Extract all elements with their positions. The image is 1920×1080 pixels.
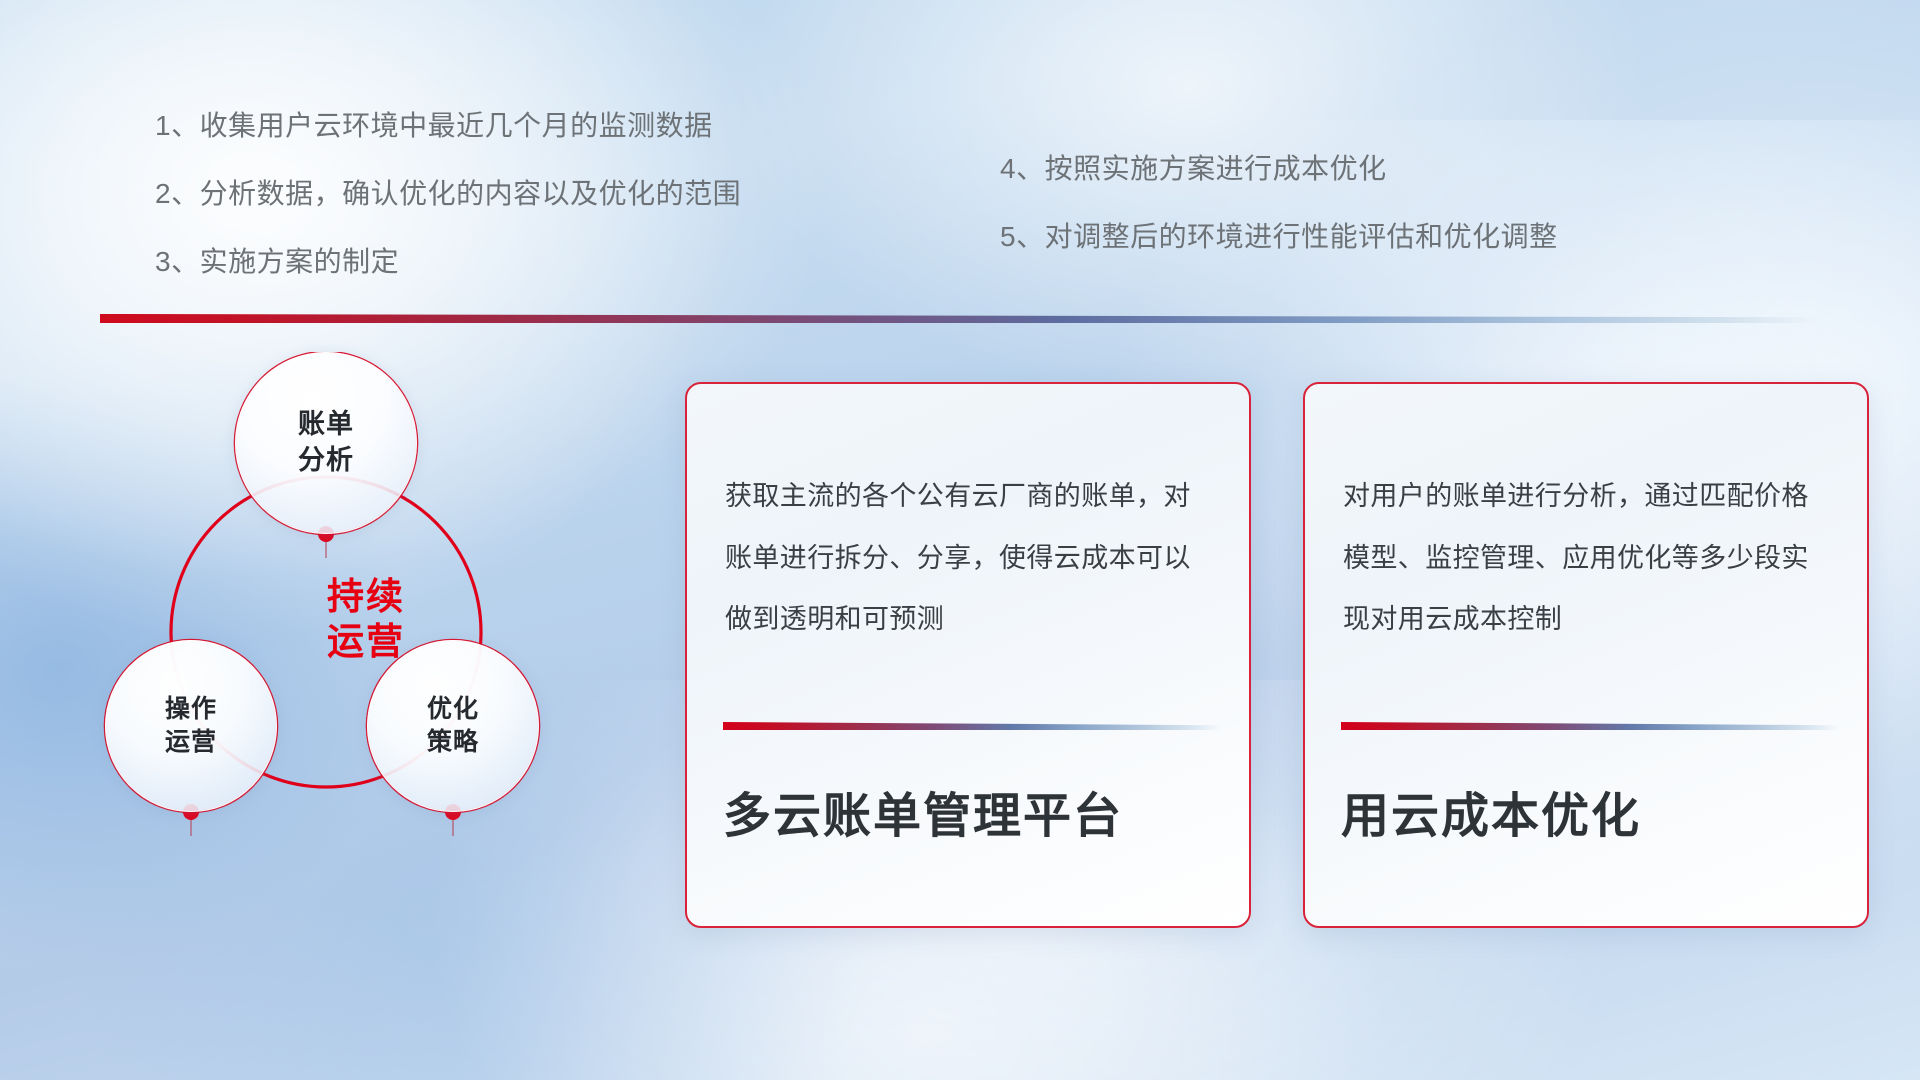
step-item-3: 3、实施方案的制定 bbox=[155, 248, 741, 276]
venn-bubble-br-line2: 策略 bbox=[427, 726, 479, 759]
venn-bubble-optimization-strategy[interactable]: 优化 策略 bbox=[367, 640, 539, 812]
card-1-title: 多云账单管理平台 bbox=[723, 788, 1221, 846]
venn-bubble-bl-line2: 运营 bbox=[165, 726, 217, 759]
venn-bubble-bl-line1: 操作 bbox=[165, 693, 217, 726]
card-1-divider bbox=[723, 722, 1221, 730]
venn-center-label: 持续 运营 bbox=[271, 574, 461, 664]
venn-center-label-line2: 运营 bbox=[271, 619, 461, 664]
venn-center-label-line1: 持续 bbox=[271, 574, 461, 619]
slide-canvas: 1、收集用户云环境中最近几个月的监测数据 2、分析数据，确认优化的内容以及优化的… bbox=[0, 0, 1920, 1080]
card-cloud-cost-optimization[interactable]: 对用户的账单进行分析，通过匹配价格模型、监控管理、应用优化等多少段实现对用云成本… bbox=[1303, 382, 1869, 928]
card-multicloud-billing-platform[interactable]: 获取主流的各个公有云厂商的账单，对账单进行拆分、分享，使得云成本可以做到透明和可… bbox=[685, 382, 1251, 928]
venn-bubble-top-line1: 账单 bbox=[298, 407, 354, 443]
card-2-title: 用云成本优化 bbox=[1341, 788, 1839, 846]
step-item-5: 5、对调整后的环境进行性能评估和优化调整 bbox=[1000, 223, 1558, 251]
steps-right-column: 4、按照实施方案进行成本优化 5、对调整后的环境进行性能评估和优化调整 bbox=[1000, 155, 1558, 291]
venn-bubble-billing-analysis[interactable]: 账单 分析 bbox=[235, 352, 417, 534]
card-2-divider bbox=[1341, 722, 1839, 730]
step-item-2: 2、分析数据，确认优化的内容以及优化的范围 bbox=[155, 180, 741, 208]
card-1-body: 获取主流的各个公有云厂商的账单，对账单进行拆分、分享，使得云成本可以做到透明和可… bbox=[725, 466, 1215, 651]
venn-diagram: 账单 分析 操作 运营 优化 策略 持续 运营 bbox=[95, 352, 615, 922]
steps-left-column: 1、收集用户云环境中最近几个月的监测数据 2、分析数据，确认优化的内容以及优化的… bbox=[155, 112, 741, 316]
section-divider-bar bbox=[100, 314, 1816, 323]
venn-bubble-top-line2: 分析 bbox=[298, 443, 354, 479]
venn-bubble-br-line1: 优化 bbox=[427, 693, 479, 726]
section-divider bbox=[100, 314, 1816, 323]
step-item-4: 4、按照实施方案进行成本优化 bbox=[1000, 155, 1558, 183]
step-item-1: 1、收集用户云环境中最近几个月的监测数据 bbox=[155, 112, 741, 140]
card-2-body: 对用户的账单进行分析，通过匹配价格模型、监控管理、应用优化等多少段实现对用云成本… bbox=[1343, 466, 1833, 651]
venn-bubble-operations[interactable]: 操作 运营 bbox=[105, 640, 277, 812]
